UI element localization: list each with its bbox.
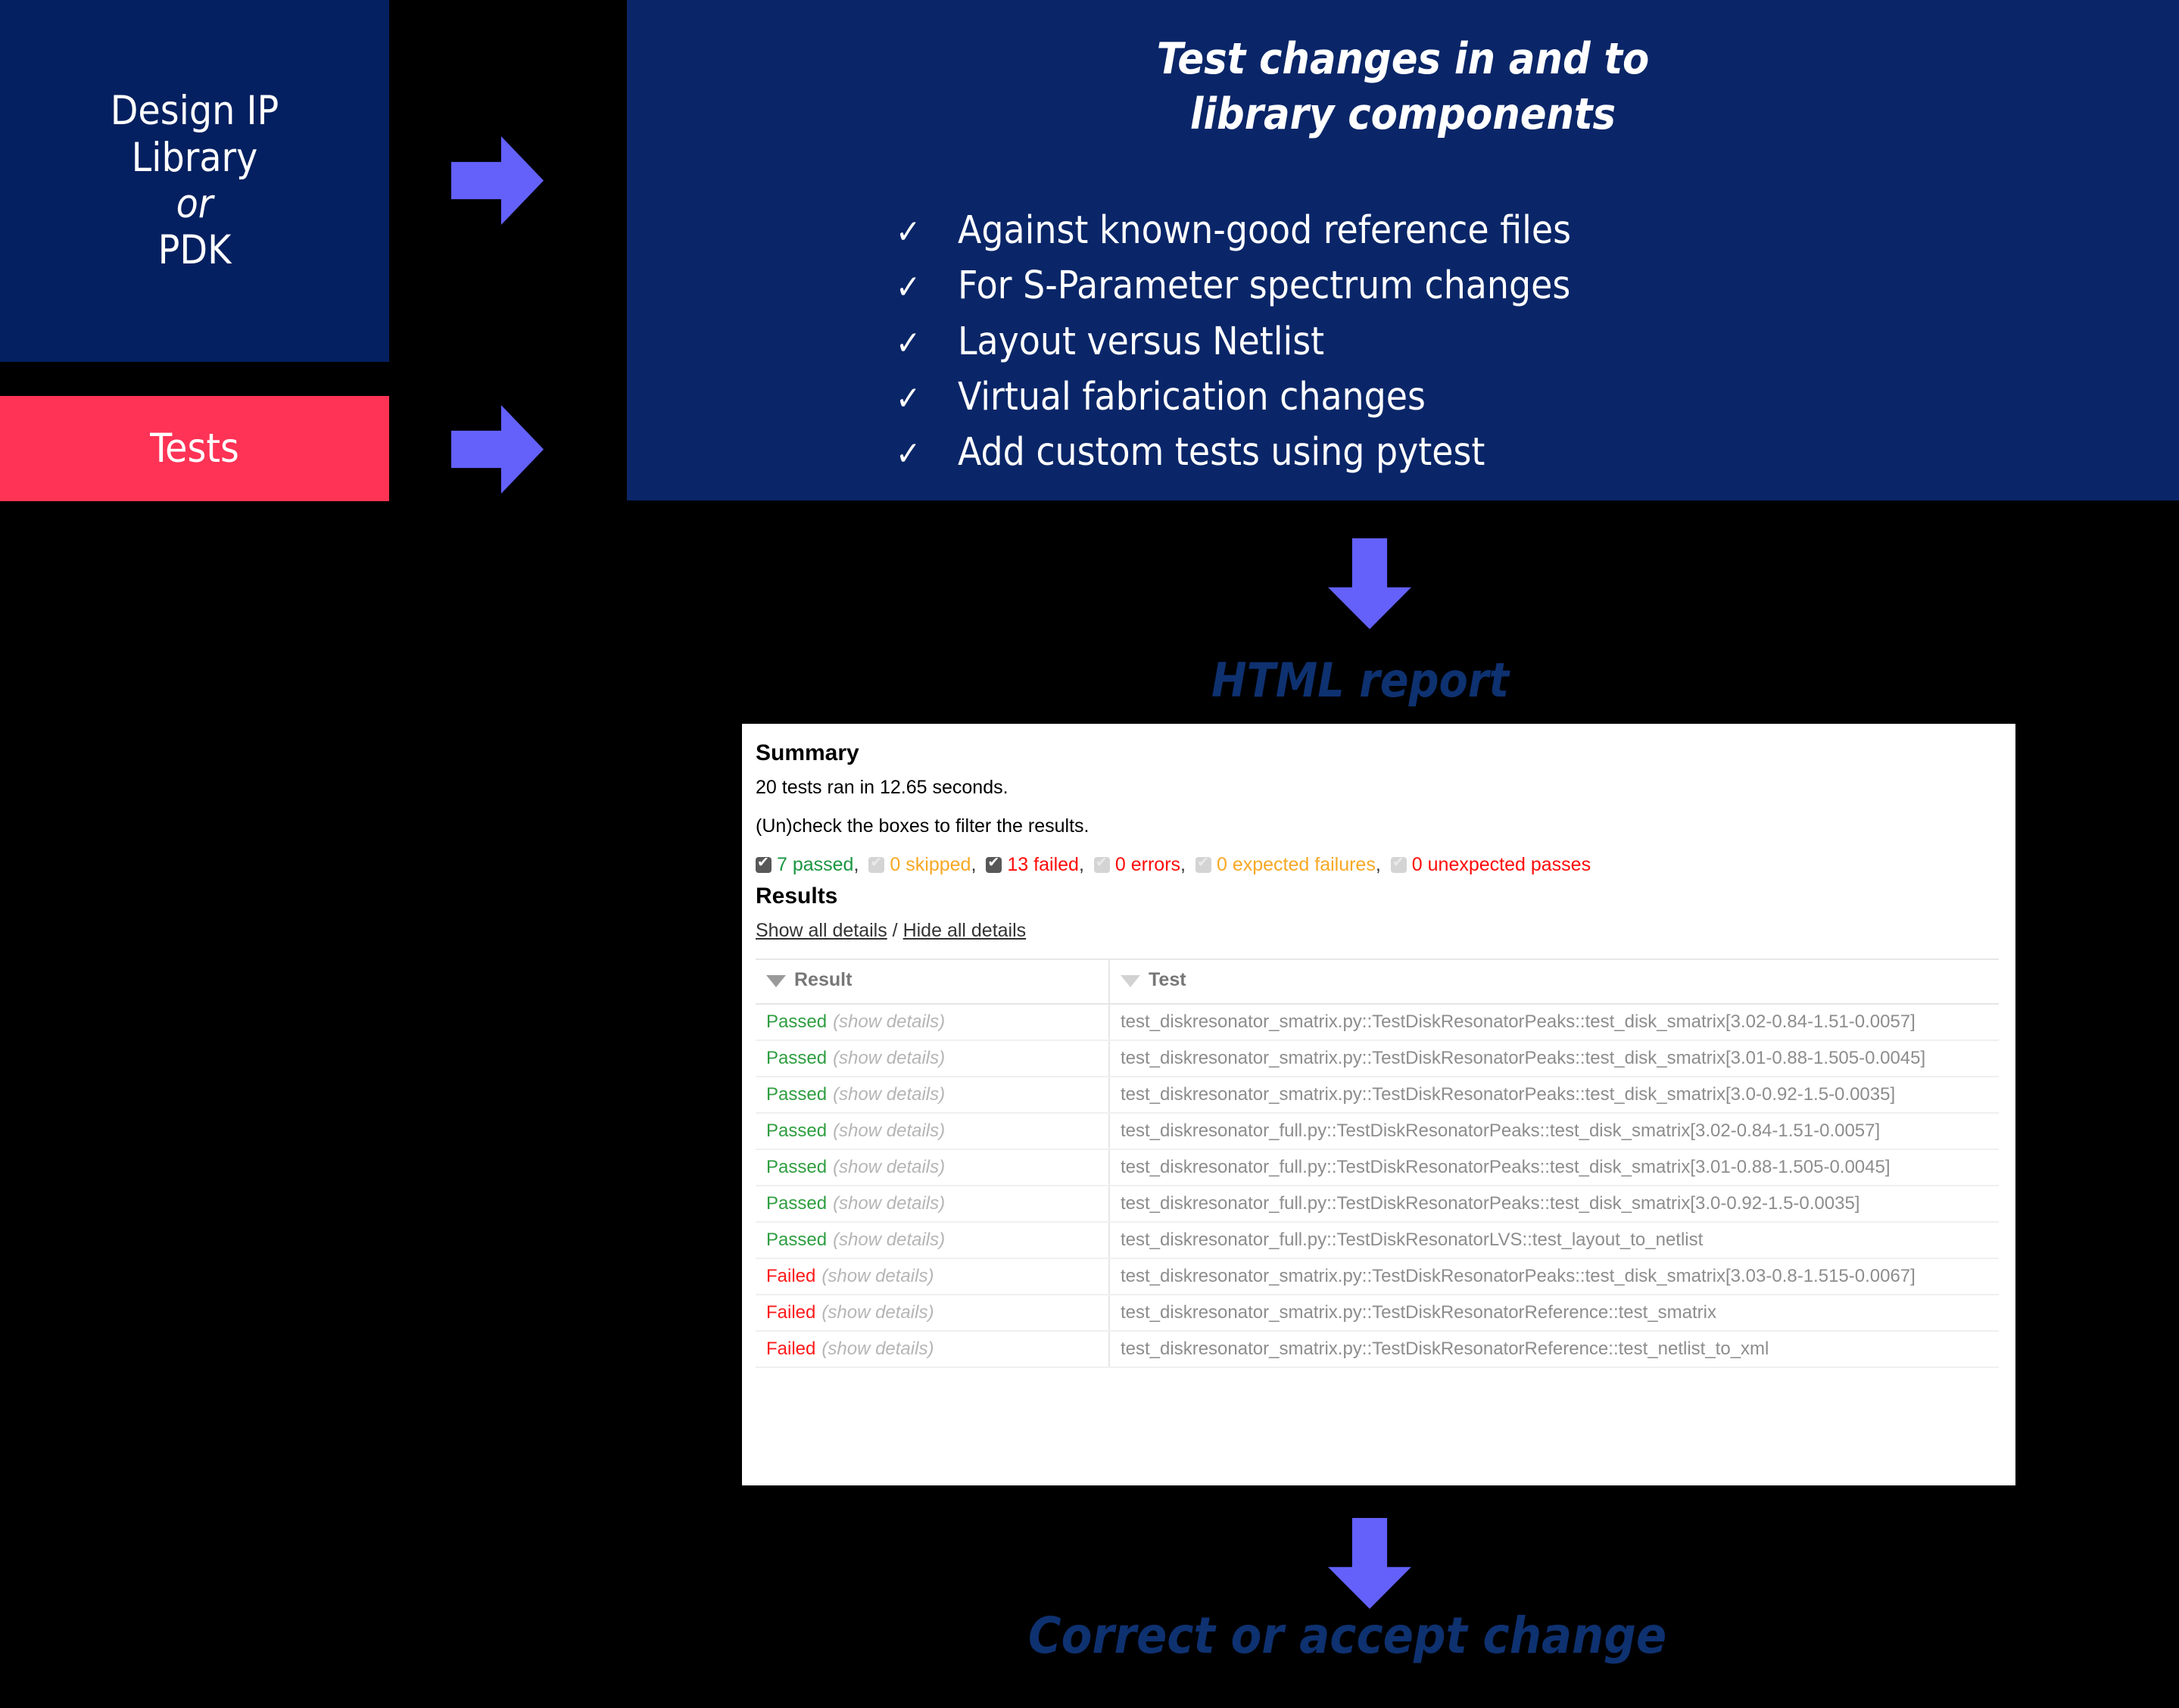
check-icon: ✓	[896, 322, 958, 365]
test-run-summary-text: 20 tests ran in 12.65 seconds.	[756, 777, 2015, 799]
show-details-link[interactable]: (show details)	[833, 1193, 945, 1214]
result-status: Passed	[766, 1011, 827, 1032]
bullet-label: For S-Parameter spectrum changes	[958, 261, 1570, 311]
checkbox-expected-failures[interactable]	[1195, 857, 1211, 873]
details-separator: /	[893, 920, 898, 941]
cell-result: Failed(show details)	[756, 1295, 1109, 1331]
cell-test-name: test_diskresonator_full.py::TestDiskReso…	[1109, 1186, 1999, 1222]
bullet-item: ✓ Add custom tests using pytest	[896, 428, 1956, 478]
cell-test-name: test_diskresonator_full.py::TestDiskReso…	[1109, 1149, 1999, 1186]
table-row[interactable]: Passed(show details) test_diskresonator_…	[756, 1113, 1999, 1149]
bullet-item: ✓ Virtual fabrication changes	[896, 372, 1956, 422]
filter-unexpected-passes-label: 0 unexpected passes	[1412, 854, 1591, 876]
filter-comma: ,	[853, 854, 859, 876]
design-ip-line-1: Design IP	[111, 88, 279, 134]
result-status: Failed	[766, 1302, 815, 1323]
cell-result: Passed(show details)	[756, 1077, 1109, 1113]
bullet-label: Against known-good reference files	[958, 206, 1571, 256]
column-header-test-label: Test	[1149, 969, 1186, 990]
results-heading: Results	[756, 884, 2015, 909]
show-details-link[interactable]: (show details)	[833, 1011, 945, 1032]
bullet-item: ✓ For S-Parameter spectrum changes	[896, 261, 1956, 311]
check-icon: ✓	[896, 210, 958, 254]
sort-caret-down-icon[interactable]	[1121, 975, 1140, 987]
design-ip-line-3: or	[111, 181, 279, 227]
show-details-link[interactable]: (show details)	[821, 1339, 934, 1359]
filter-errors[interactable]: 0 errors ,	[1094, 854, 1195, 876]
filter-unexpected-passes[interactable]: 0 unexpected passes	[1391, 854, 1591, 876]
filter-expected-failures[interactable]: 0 expected failures ,	[1195, 854, 1391, 876]
result-status: Passed	[766, 1157, 827, 1177]
tests-block: Tests	[0, 396, 389, 501]
table-row[interactable]: Passed(show details) test_diskresonator_…	[756, 1186, 1999, 1222]
checkbox-failed[interactable]	[986, 857, 1002, 873]
filter-comma: ,	[971, 854, 976, 876]
table-row[interactable]: Passed(show details) test_diskresonator_…	[756, 1077, 1999, 1113]
cell-test-name: test_diskresonator_smatrix.py::TestDiskR…	[1109, 1331, 1999, 1367]
cell-result: Passed(show details)	[756, 1222, 1109, 1258]
arrow-down-icon-report	[1328, 538, 1411, 629]
show-details-link[interactable]: (show details)	[833, 1084, 945, 1105]
results-table: Result Test Passed(show details) test_di…	[756, 958, 1999, 1368]
table-row[interactable]: Passed(show details) test_diskresonator_…	[756, 1149, 1999, 1186]
panel-heading: Test changes in and to library component…	[627, 32, 2179, 142]
design-ip-library-block: Design IP Library or PDK	[0, 0, 389, 362]
show-details-link[interactable]: (show details)	[821, 1302, 934, 1323]
show-details-link[interactable]: (show details)	[833, 1230, 945, 1250]
filter-comma: ,	[1079, 854, 1084, 876]
arrow-right-icon-tests	[451, 405, 544, 494]
arrow-right-icon-library	[451, 136, 544, 225]
bullet-item: ✓ Layout versus Netlist	[896, 317, 1956, 367]
show-details-link[interactable]: (show details)	[833, 1048, 945, 1068]
detail-links: Show all details / Hide all details	[756, 920, 2015, 942]
result-status: Passed	[766, 1084, 827, 1105]
checkbox-skipped[interactable]	[868, 857, 884, 873]
cell-test-name: test_diskresonator_full.py::TestDiskReso…	[1109, 1113, 1999, 1149]
filter-instructions-text: (Un)check the boxes to filter the result…	[756, 815, 2015, 837]
cell-test-name: test_diskresonator_smatrix.py::TestDiskR…	[1109, 1004, 1999, 1040]
result-status: Passed	[766, 1193, 827, 1214]
filter-failed[interactable]: 13 failed ,	[986, 854, 1093, 876]
correct-or-accept-caption: Correct or accept change	[1028, 1607, 1666, 1665]
checkbox-passed[interactable]	[756, 857, 772, 873]
filter-failed-label: 13 failed	[1007, 854, 1079, 876]
check-icon: ✓	[896, 266, 958, 309]
cell-test-name: test_diskresonator_full.py::TestDiskReso…	[1109, 1222, 1999, 1258]
result-status: Failed	[766, 1339, 815, 1359]
table-row[interactable]: Failed(show details) test_diskresonator_…	[756, 1295, 1999, 1331]
column-header-test[interactable]: Test	[1109, 959, 1999, 1004]
table-row[interactable]: Failed(show details) test_diskresonator_…	[756, 1258, 1999, 1295]
show-all-details-link[interactable]: Show all details	[756, 920, 887, 941]
tests-label: Tests	[150, 425, 239, 472]
table-row[interactable]: Failed(show details) test_diskresonator_…	[756, 1331, 1999, 1367]
check-icon: ✓	[896, 377, 958, 420]
filter-skipped-label: 0 skipped	[890, 854, 971, 876]
filter-expected-failures-label: 0 expected failures	[1217, 854, 1376, 876]
cell-test-name: test_diskresonator_smatrix.py::TestDiskR…	[1109, 1040, 1999, 1077]
filter-comma: ,	[1180, 854, 1186, 876]
filter-passed[interactable]: 7 passed ,	[756, 854, 868, 876]
cell-result: Passed(show details)	[756, 1040, 1109, 1077]
test-changes-panel: Test changes in and to library component…	[627, 0, 2179, 500]
show-details-link[interactable]: (show details)	[833, 1157, 945, 1177]
html-report-caption: HTML report	[1211, 653, 1509, 708]
cell-test-name: test_diskresonator_smatrix.py::TestDiskR…	[1109, 1295, 1999, 1331]
panel-bullet-list: ✓ Against known-good reference files ✓ F…	[896, 206, 1956, 483]
html-report-card: Summary 20 tests ran in 12.65 seconds. (…	[742, 724, 2015, 1485]
result-status: Failed	[766, 1266, 815, 1286]
checkbox-errors[interactable]	[1094, 857, 1110, 873]
design-ip-line-2: Library	[111, 135, 279, 181]
bullet-item: ✓ Against known-good reference files	[896, 206, 1956, 256]
checkbox-unexpected-passes[interactable]	[1391, 857, 1407, 873]
filter-checkbox-row: 7 passed , 0 skipped , 13 failed , 0 err…	[756, 854, 2015, 876]
diagram-canvas: Design IP Library or PDK Tests Test chan…	[0, 0, 2179, 1708]
column-header-result[interactable]: Result	[756, 959, 1109, 1004]
filter-passed-label: 7 passed	[777, 854, 853, 876]
table-header-row: Result Test	[756, 959, 1999, 1004]
table-row[interactable]: Passed(show details) test_diskresonator_…	[756, 1222, 1999, 1258]
cell-result: Failed(show details)	[756, 1331, 1109, 1367]
summary-heading: Summary	[756, 740, 2015, 766]
bullet-label: Layout versus Netlist	[958, 317, 1324, 367]
cell-result: Passed(show details)	[756, 1004, 1109, 1040]
result-status: Passed	[766, 1230, 827, 1250]
result-status: Passed	[766, 1120, 827, 1141]
arrow-down-icon-correct	[1328, 1518, 1411, 1609]
bullet-label: Virtual fabrication changes	[958, 372, 1426, 422]
bullet-label: Add custom tests using pytest	[958, 428, 1485, 478]
design-ip-line-4: PDK	[111, 227, 279, 273]
result-status: Passed	[766, 1048, 827, 1068]
table-row[interactable]: Passed(show details) test_diskresonator_…	[756, 1040, 1999, 1077]
cell-test-name: test_diskresonator_smatrix.py::TestDiskR…	[1109, 1077, 1999, 1113]
sort-caret-down-icon[interactable]	[766, 975, 786, 987]
filter-skipped[interactable]: 0 skipped ,	[868, 854, 986, 876]
hide-all-details-link[interactable]: Hide all details	[903, 920, 1027, 941]
show-details-link[interactable]: (show details)	[833, 1120, 945, 1141]
show-details-link[interactable]: (show details)	[821, 1266, 934, 1286]
cell-result: Failed(show details)	[756, 1258, 1109, 1295]
filter-comma: ,	[1376, 854, 1381, 876]
cell-result: Passed(show details)	[756, 1149, 1109, 1186]
cell-test-name: test_diskresonator_smatrix.py::TestDiskR…	[1109, 1258, 1999, 1295]
check-icon: ✓	[896, 432, 958, 475]
cell-result: Passed(show details)	[756, 1113, 1109, 1149]
column-header-result-label: Result	[794, 969, 852, 990]
table-row[interactable]: Passed(show details) test_diskresonator_…	[756, 1004, 1999, 1040]
cell-result: Passed(show details)	[756, 1186, 1109, 1222]
filter-errors-label: 0 errors	[1115, 854, 1180, 876]
